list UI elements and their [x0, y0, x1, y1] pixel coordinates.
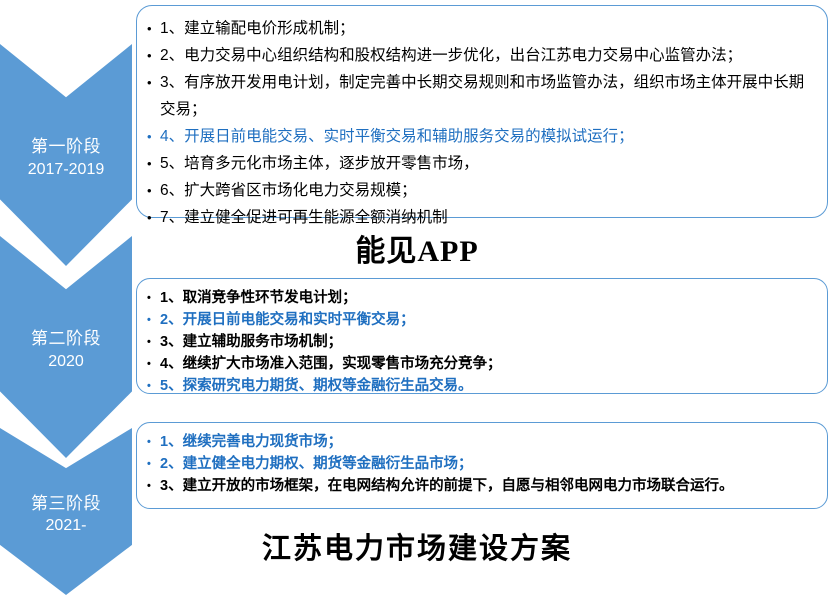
bullet-item: 1、取消竞争性环节发电计划； [147, 287, 813, 309]
phase-chevron-1-label: 第一阶段 [28, 135, 105, 158]
bullet-item: 2、建立健全电力期权、期货等金融衍生品市场； [147, 453, 813, 475]
phase-chevron-1-content: 第一阶段 2017-2019 [28, 135, 105, 181]
bullet-item: 1、建立输配电价形成机制； [147, 15, 813, 42]
bullet-item: 2、开展日前电能交易和实时平衡交易； [147, 309, 813, 331]
phase-1-content-card: 1、建立输配电价形成机制；2、电力交易中心组织结构和股权结构进一步优化，出台江苏… [136, 5, 828, 218]
bullet-item: 5、探索研究电力期货、期权等金融衍生品交易。 [147, 375, 813, 397]
phase-chevron-3-label: 第三阶段 [31, 492, 101, 515]
bullet-item: 5、培育多元化市场主体，逐步放开零售市场， [147, 150, 813, 177]
bullet-item: 3、建立辅助服务市场机制； [147, 331, 813, 353]
phase-3-content-card: 1、继续完善电力现货市场；2、建立健全电力期权、期货等金融衍生品市场；3、建立开… [136, 422, 828, 509]
phase-2-bullet-list: 1、取消竞争性环节发电计划；2、开展日前电能交易和实时平衡交易；3、建立辅助服务… [137, 279, 827, 397]
phase-1-bullet-list: 1、建立输配电价形成机制；2、电力交易中心组织结构和股权结构进一步优化，出台江苏… [137, 6, 827, 231]
watermark-text: 能见APP [0, 226, 834, 270]
bullet-item: 3、建立开放的市场框架，在电网结构允许的前提下，自愿与相邻电网电力市场联合运行。 [147, 475, 813, 497]
page-title: 江苏电力市场建设方案 [0, 525, 834, 567]
bullet-item: 3、有序放开发用电计划，制定完善中长期交易规则和市场监管办法，组织市场主体开展中… [147, 69, 813, 123]
bullet-item: 4、开展日前电能交易、实时平衡交易和辅助服务交易的模拟试运行； [147, 123, 813, 150]
phase-3-bullet-list: 1、继续完善电力现货市场；2、建立健全电力期权、期货等金融衍生品市场；3、建立开… [137, 423, 827, 497]
phase-chevron-column: 第一阶段 2017-2019 第二阶段 2020 第三阶段 2021- [0, 0, 132, 595]
bullet-item: 1、继续完善电力现货市场； [147, 431, 813, 453]
bullet-item: 4、继续扩大市场准入范围，实现零售市场充分竞争； [147, 353, 813, 375]
phase-chevron-1-years: 2017-2019 [28, 159, 105, 181]
bullet-item: 2、电力交易中心组织结构和股权结构进一步优化，出台江苏电力交易中心监管办法； [147, 42, 813, 69]
phase-chevron-2-content: 第二阶段 2020 [31, 327, 101, 373]
bullet-item: 6、扩大跨省区市场化电力交易规模； [147, 177, 813, 204]
phase-chevron-2-label: 第二阶段 [31, 327, 101, 350]
phase-chevron-2-years: 2020 [31, 351, 101, 373]
phase-2-content-card: 1、取消竞争性环节发电计划；2、开展日前电能交易和实时平衡交易；3、建立辅助服务… [136, 278, 828, 394]
